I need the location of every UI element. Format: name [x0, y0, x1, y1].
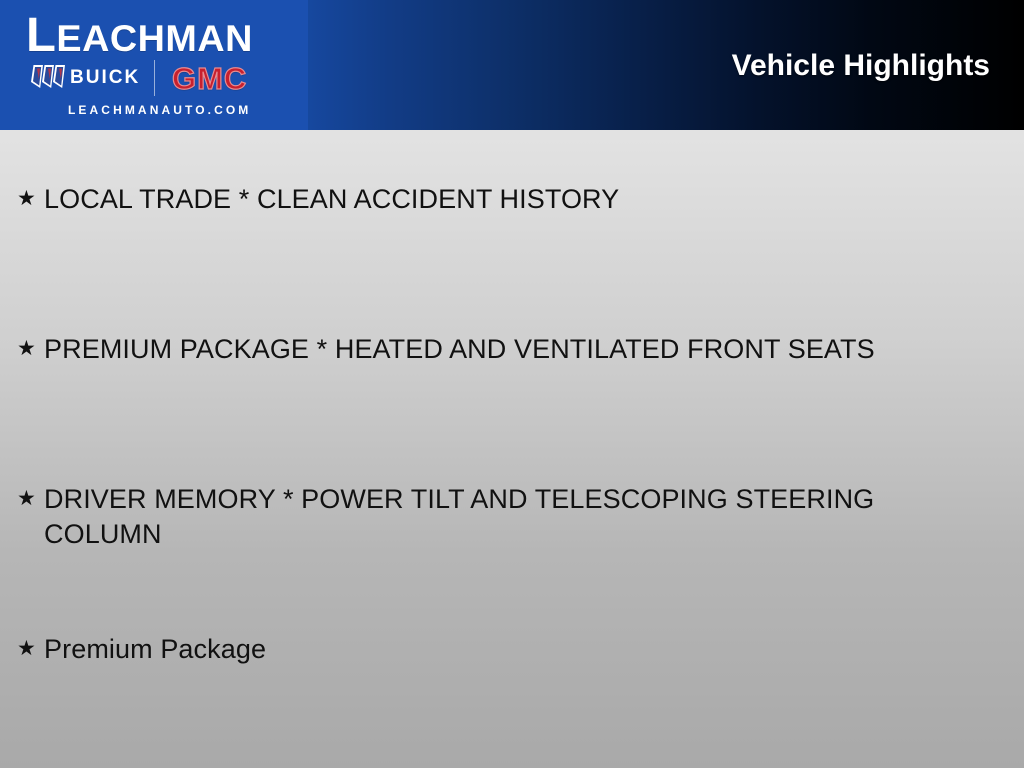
buick-brand-label: BUICK — [70, 68, 140, 87]
list-item: ★ DRIVER MEMORY * POWER TILT AND TELESCO… — [14, 482, 994, 632]
dealer-wordmark-rest: EACHMAN — [56, 18, 252, 59]
vehicle-highlights-list: ★ LOCAL TRADE * CLEAN ACCIDENT HISTORY ★… — [0, 130, 1024, 768]
page-header: LEACHMAN BUICK GMC LEACHMANAUTO. — [0, 0, 1024, 130]
star-bullet-icon: ★ — [14, 482, 44, 516]
list-item: ★ Premium Package — [14, 632, 994, 667]
list-item-label: Premium Package — [44, 632, 994, 667]
brand-divider — [154, 60, 155, 96]
dealer-website-url[interactable]: LEACHMANAUTO.COM — [68, 103, 251, 117]
list-item: ★ LOCAL TRADE * CLEAN ACCIDENT HISTORY — [14, 182, 994, 332]
list-item-label: PREMIUM PACKAGE * HEATED AND VENTILATED … — [44, 332, 994, 367]
list-item: ★ PREMIUM PACKAGE * HEATED AND VENTILATE… — [14, 332, 994, 482]
page-title: Vehicle Highlights — [732, 49, 990, 83]
star-bullet-icon: ★ — [14, 332, 44, 366]
list-item-label: DRIVER MEMORY * POWER TILT AND TELESCOPI… — [44, 482, 994, 552]
buick-tri-shield-icon — [30, 64, 65, 90]
dealer-logo[interactable]: LEACHMAN BUICK GMC LEACHMANAUTO. — [0, 0, 308, 130]
star-bullet-icon: ★ — [14, 632, 44, 666]
gmc-brand-label: GMC — [172, 63, 247, 94]
list-item-label: LOCAL TRADE * CLEAN ACCIDENT HISTORY — [44, 182, 994, 217]
vehicle-highlights-page: LEACHMAN BUICK GMC LEACHMANAUTO. — [0, 0, 1024, 768]
dealer-wordmark: LEACHMAN — [26, 11, 293, 59]
dealer-wordmark-cap: L — [26, 9, 56, 62]
star-bullet-icon: ★ — [14, 182, 44, 216]
